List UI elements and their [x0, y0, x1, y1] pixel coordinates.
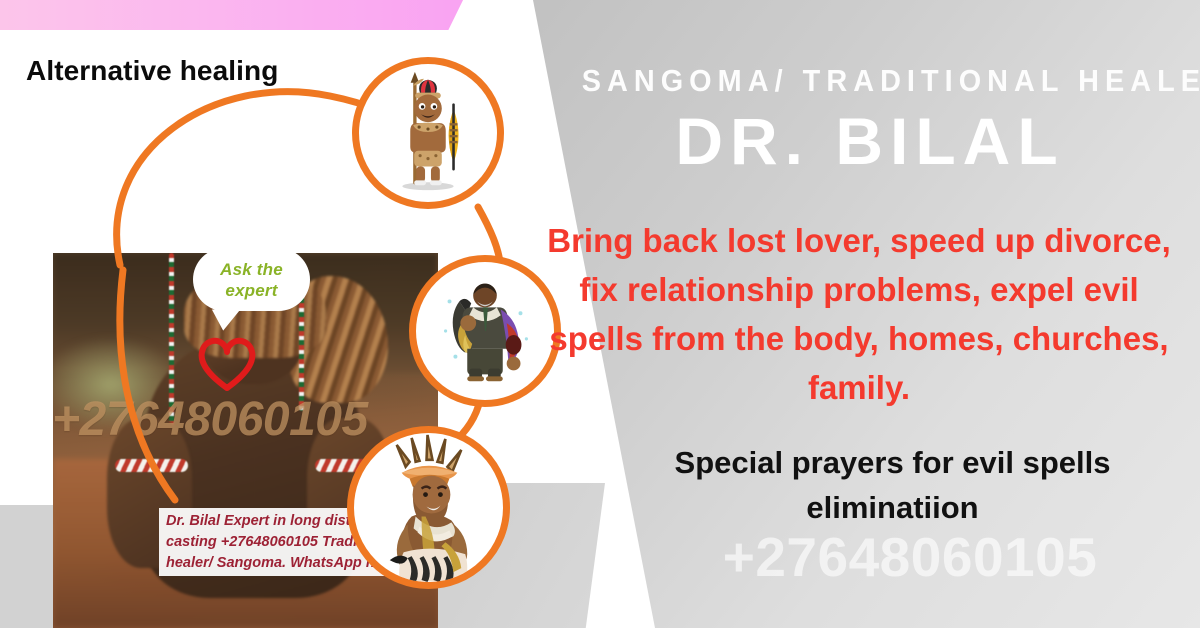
services-description: Bring back lost lover, speed up divorce,…: [534, 216, 1184, 412]
heart-icon: [196, 333, 258, 391]
photo-armband-left: [115, 459, 188, 472]
eyebrow-subtitle: SANGOMA/ TRADITIONAL HEALER: [582, 63, 1159, 99]
bubble-text: Ask the expert: [193, 248, 310, 311]
circle-kneeling-dancer: [347, 426, 510, 589]
bubble-line-2: expert: [225, 280, 277, 301]
page-title: Alternative healing: [26, 55, 278, 87]
zulu-warrior-icon: [359, 64, 497, 202]
poster-canvas: +27648060105 Ask the expert Dr. Bilal Ex…: [0, 0, 1200, 628]
phone-number-watermark: +27648060105: [630, 525, 1190, 589]
kneeling-dancer-icon: [354, 433, 503, 582]
special-prayers-text: Special prayers for evil spells eliminat…: [600, 440, 1185, 530]
bubble-line-1: Ask the: [220, 259, 283, 280]
circle-zulu-warrior: [352, 57, 504, 209]
pink-banner-stripe: [0, 0, 465, 30]
brand-name: DR. BILAL: [560, 105, 1180, 177]
ask-the-expert-bubble: Ask the expert: [193, 248, 310, 311]
